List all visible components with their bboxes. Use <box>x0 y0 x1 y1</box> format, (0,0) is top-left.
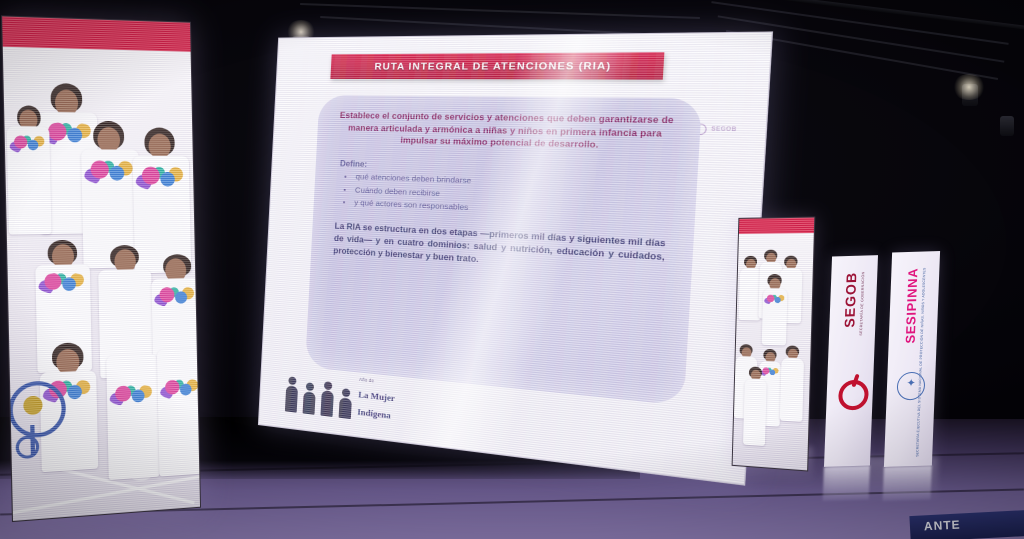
mujer-line-2: Indígena <box>357 407 391 421</box>
wheelchair <box>8 376 74 479</box>
mujer-indigena-logo: Año de La Mujer Indígena <box>285 361 396 424</box>
banner-sesipinna: SESIPINNA SECRETARÍA EJECUTIVA DEL SISTE… <box>884 251 940 467</box>
stage-scene: RUTA INTEGRAL DE ATENCIONES (RIA) SEGOB … <box>0 0 1024 539</box>
wheelchair-caster <box>15 435 39 459</box>
sesipinna-star-icon: ✦ <box>906 378 916 389</box>
embroidery-detail <box>764 294 787 304</box>
edge-banner-partial: ANTE <box>909 510 1024 539</box>
banner-segob: SEGOB SECRETARÍA DE GOBERNACIÓN <box>824 255 878 467</box>
led-main-screen: RUTA INTEGRAL DE ATENCIONES (RIA) SEGOB … <box>258 31 773 485</box>
segob-emblem-icon <box>836 374 864 404</box>
embroidery-detail <box>135 166 188 190</box>
child-figure <box>106 354 159 480</box>
child-figure <box>780 357 804 421</box>
banner-reflection <box>883 465 932 501</box>
stage-light <box>1000 116 1014 136</box>
slide-bullet-list: qué atenciones deben brindarse Cuándo de… <box>334 170 672 223</box>
stage-light-glow <box>952 74 986 100</box>
slide-lead-paragraph: Establece el conjunto de servicios y ate… <box>337 110 676 155</box>
embroidery-detail <box>9 135 48 154</box>
woman-silhouette-icon <box>320 390 333 417</box>
banner-sesipinna-name: SESIPINNA <box>902 268 920 344</box>
slide-title-ribbon: RUTA INTEGRAL DE ATENCIONES (RIA) <box>330 52 664 79</box>
slide-title-text: RUTA INTEGRAL DE ATENCIONES (RIA) <box>374 60 611 72</box>
woman-silhouette-icon <box>303 391 316 415</box>
mujer-indigena-text: Año de La Mujer Indígena <box>357 368 396 424</box>
child-figure <box>157 348 201 477</box>
banner-segob-name: SEGOB <box>841 272 859 328</box>
woman-silhouette-icon <box>285 385 298 412</box>
led-panel-narrow <box>732 217 816 472</box>
embroidery-detail <box>154 286 198 307</box>
panel-photo <box>3 47 200 521</box>
woman-silhouette-icon <box>339 397 352 419</box>
led-panel-left <box>1 15 201 522</box>
slide-content-box: Establece el conjunto de servicios y ate… <box>305 95 702 406</box>
embroidery-detail <box>38 272 89 294</box>
embroidery-detail <box>83 160 137 185</box>
embroidery-detail <box>760 367 780 377</box>
banner-reflection <box>823 465 870 501</box>
slide-corner-logo: SEGOB <box>694 123 737 135</box>
mujer-small-line: Año de <box>359 376 374 383</box>
banner-sesipinna-content: SESIPINNA SECRETARÍA EJECUTIVA DEL SISTE… <box>884 251 940 467</box>
slide-closing-paragraph: La RIA se estructura en dos etapas —prim… <box>333 220 666 278</box>
wheelchair-frame <box>30 425 35 456</box>
panel-photo <box>733 233 814 471</box>
edge-banner-text: ANTE <box>924 518 961 534</box>
mujer-line-1: La Mujer <box>358 389 395 403</box>
banner-segob-subtitle: SECRETARÍA DE GOBERNACIÓN <box>859 271 865 335</box>
child-figure <box>743 378 767 446</box>
embroidery-detail <box>160 378 201 400</box>
banner-segob-content: SEGOB SECRETARÍA DE GOBERNACIÓN <box>824 255 878 467</box>
slide-corner-logo-label: SEGOB <box>711 126 737 133</box>
